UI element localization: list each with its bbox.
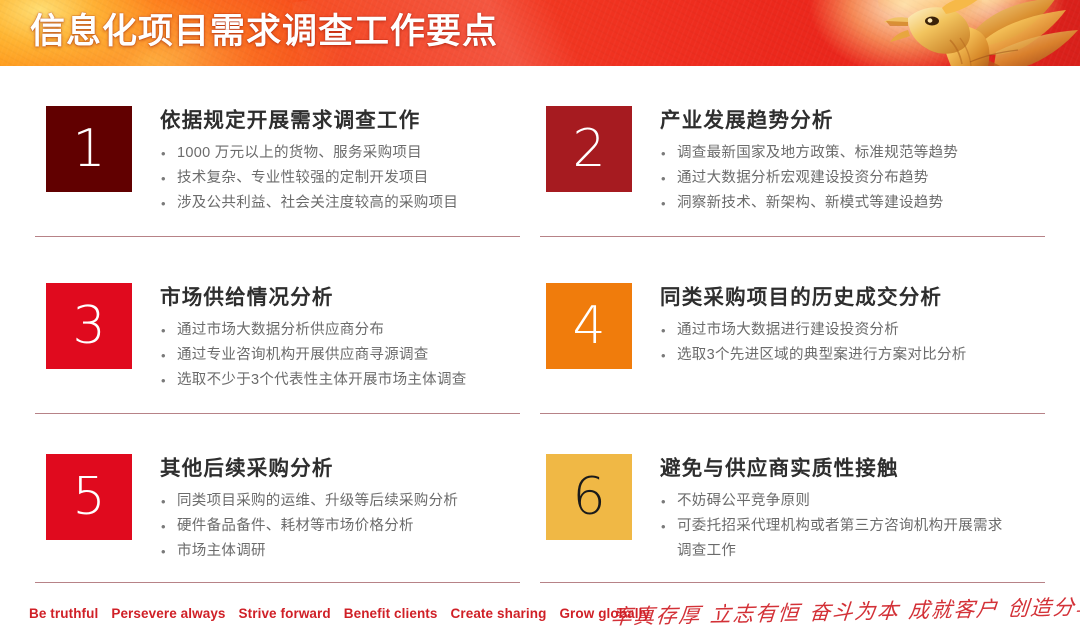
item-number-badge-5: 5 xyxy=(46,454,132,540)
list-item: 可委托招采代理机构或者第三方咨询机构开展需求调查工作 xyxy=(660,514,1009,564)
list-item: 硬件备品备件、耗材等市场价格分析 xyxy=(160,514,458,539)
list-item: 通过大数据分析宏观建设投资分布趋势 xyxy=(660,166,958,191)
list-item: 市场主体调研 xyxy=(160,539,458,564)
footer-chinese-slogans: 率真存厚立志有恒奋斗为本成就客户创造分享共同成长 xyxy=(610,589,1080,631)
item-number-3: 3 xyxy=(72,300,105,352)
item-number-1: 1 xyxy=(72,123,105,175)
item-body-3: 市场供给情况分析 通过市场大数据分析供应商分布 通过专业咨询机构开展供应商寻源调… xyxy=(132,283,467,393)
item-bullets-4: 通过市场大数据进行建设投资分析 选取3个先进区域的典型案进行方案对比分析 xyxy=(660,318,967,368)
key-point-item-4[interactable]: 4 同类采购项目的历史成交分析 通过市场大数据进行建设投资分析 选取3个先进区域… xyxy=(546,283,967,369)
item-number-6: 6 xyxy=(572,471,605,523)
footer-en-3: Benefit clients xyxy=(344,606,438,621)
divider-left-row1 xyxy=(35,236,520,237)
footer-cn-2: 奋斗为本 xyxy=(808,595,901,627)
list-item: 1000 万元以上的货物、服务采购项目 xyxy=(160,141,458,166)
item-number-badge-6: 6 xyxy=(546,454,632,540)
item-bullets-3: 通过市场大数据分析供应商分布 通过专业咨询机构开展供应商寻源调查 选取不少于3个… xyxy=(160,318,467,393)
key-points-grid: 1 依据规定开展需求调查工作 1000 万元以上的货物、服务采购项目 技术复杂、… xyxy=(0,88,1080,578)
key-point-item-1[interactable]: 1 依据规定开展需求调查工作 1000 万元以上的货物、服务采购项目 技术复杂、… xyxy=(46,106,458,216)
list-item: 同类项目采购的运维、升级等后续采购分析 xyxy=(160,489,458,514)
list-item: 涉及公共利益、社会关注度较高的采购项目 xyxy=(160,191,458,216)
divider-left-row2 xyxy=(35,413,520,414)
key-point-item-5[interactable]: 5 其他后续采购分析 同类项目采购的运维、升级等后续采购分析 硬件备品备件、耗材… xyxy=(46,454,458,564)
footer-en-0: Be truthful xyxy=(29,606,98,621)
list-item: 洞察新技术、新架构、新模式等建设趋势 xyxy=(660,191,958,216)
footer-en-1: Persevere always xyxy=(111,606,225,621)
item-number-badge-3: 3 xyxy=(46,283,132,369)
key-point-item-2[interactable]: 2 产业发展趋势分析 调查最新国家及地方政策、标准规范等趋势 通过大数据分析宏观… xyxy=(546,106,958,216)
item-body-2: 产业发展趋势分析 调查最新国家及地方政策、标准规范等趋势 通过大数据分析宏观建设… xyxy=(632,106,958,216)
footer-en-4: Create sharing xyxy=(451,606,547,621)
divider-right-row2 xyxy=(540,413,1045,414)
item-number-2: 2 xyxy=(572,123,605,175)
item-title-3: 市场供给情况分析 xyxy=(160,285,467,311)
item-number-4: 4 xyxy=(572,300,605,352)
footer-en-2: Strive forward xyxy=(239,606,331,621)
item-body-4: 同类采购项目的历史成交分析 通过市场大数据进行建设投资分析 选取3个先进区域的典… xyxy=(632,283,967,368)
footer-cn-1: 立志有恒 xyxy=(709,597,802,629)
key-point-item-3[interactable]: 3 市场供给情况分析 通过市场大数据分析供应商分布 通过专业咨询机构开展供应商寻… xyxy=(46,283,467,393)
item-title-5: 其他后续采购分析 xyxy=(160,456,458,482)
item-title-4: 同类采购项目的历史成交分析 xyxy=(660,285,967,311)
item-body-1: 依据规定开展需求调查工作 1000 万元以上的货物、服务采购项目 技术复杂、专业… xyxy=(132,106,458,216)
list-item: 通过市场大数据进行建设投资分析 xyxy=(660,318,967,343)
phoenix-icon xyxy=(850,0,1080,66)
page-title: 信息化项目需求调查工作要点 xyxy=(30,8,498,56)
item-number-5: 5 xyxy=(72,471,105,523)
divider-left-row3 xyxy=(35,582,520,583)
list-item: 技术复杂、专业性较强的定制开发项目 xyxy=(160,166,458,191)
item-bullets-5: 同类项目采购的运维、升级等后续采购分析 硬件备品备件、耗材等市场价格分析 市场主… xyxy=(160,489,458,564)
list-item: 通过市场大数据分析供应商分布 xyxy=(160,318,467,343)
item-body-6: 避免与供应商实质性接触 不妨碍公平竞争原则 可委托招采代理机构或者第三方咨询机构… xyxy=(632,454,1009,564)
item-bullets-1: 1000 万元以上的货物、服务采购项目 技术复杂、专业性较强的定制开发项目 涉及… xyxy=(160,141,458,216)
list-item: 通过专业咨询机构开展供应商寻源调查 xyxy=(160,343,467,368)
list-item: 选取不少于3个代表性主体开展市场主体调查 xyxy=(160,368,467,393)
footer-cn-4: 创造分享 xyxy=(1007,591,1080,623)
footer-cn-3: 成就客户 xyxy=(907,593,1000,625)
list-item: 不妨碍公平竞争原则 xyxy=(660,489,1009,514)
item-number-badge-1: 1 xyxy=(46,106,132,192)
item-bullets-6: 不妨碍公平竞争原则 可委托招采代理机构或者第三方咨询机构开展需求调查工作 xyxy=(660,489,1009,564)
item-number-badge-4: 4 xyxy=(546,283,632,369)
list-item: 调查最新国家及地方政策、标准规范等趋势 xyxy=(660,141,958,166)
list-item: 选取3个先进区域的典型案进行方案对比分析 xyxy=(660,343,967,368)
item-bullets-2: 调查最新国家及地方政策、标准规范等趋势 通过大数据分析宏观建设投资分布趋势 洞察… xyxy=(660,141,958,216)
key-point-item-6[interactable]: 6 避免与供应商实质性接触 不妨碍公平竞争原则 可委托招采代理机构或者第三方咨询… xyxy=(546,454,1009,564)
divider-right-row3 xyxy=(540,582,1045,583)
item-number-badge-2: 2 xyxy=(546,106,632,192)
item-body-5: 其他后续采购分析 同类项目采购的运维、升级等后续采购分析 硬件备品备件、耗材等市… xyxy=(132,454,458,564)
item-title-6: 避免与供应商实质性接触 xyxy=(660,456,1009,482)
item-title-2: 产业发展趋势分析 xyxy=(660,108,958,134)
footer-cn-0: 率真存厚 xyxy=(610,599,703,631)
item-title-1: 依据规定开展需求调查工作 xyxy=(160,108,458,134)
footer-english-slogans: Be truthfulPersevere alwaysStrive forwar… xyxy=(29,606,663,621)
divider-right-row1 xyxy=(540,236,1045,237)
header-banner: 信息化项目需求调查工作要点 xyxy=(0,0,1080,66)
